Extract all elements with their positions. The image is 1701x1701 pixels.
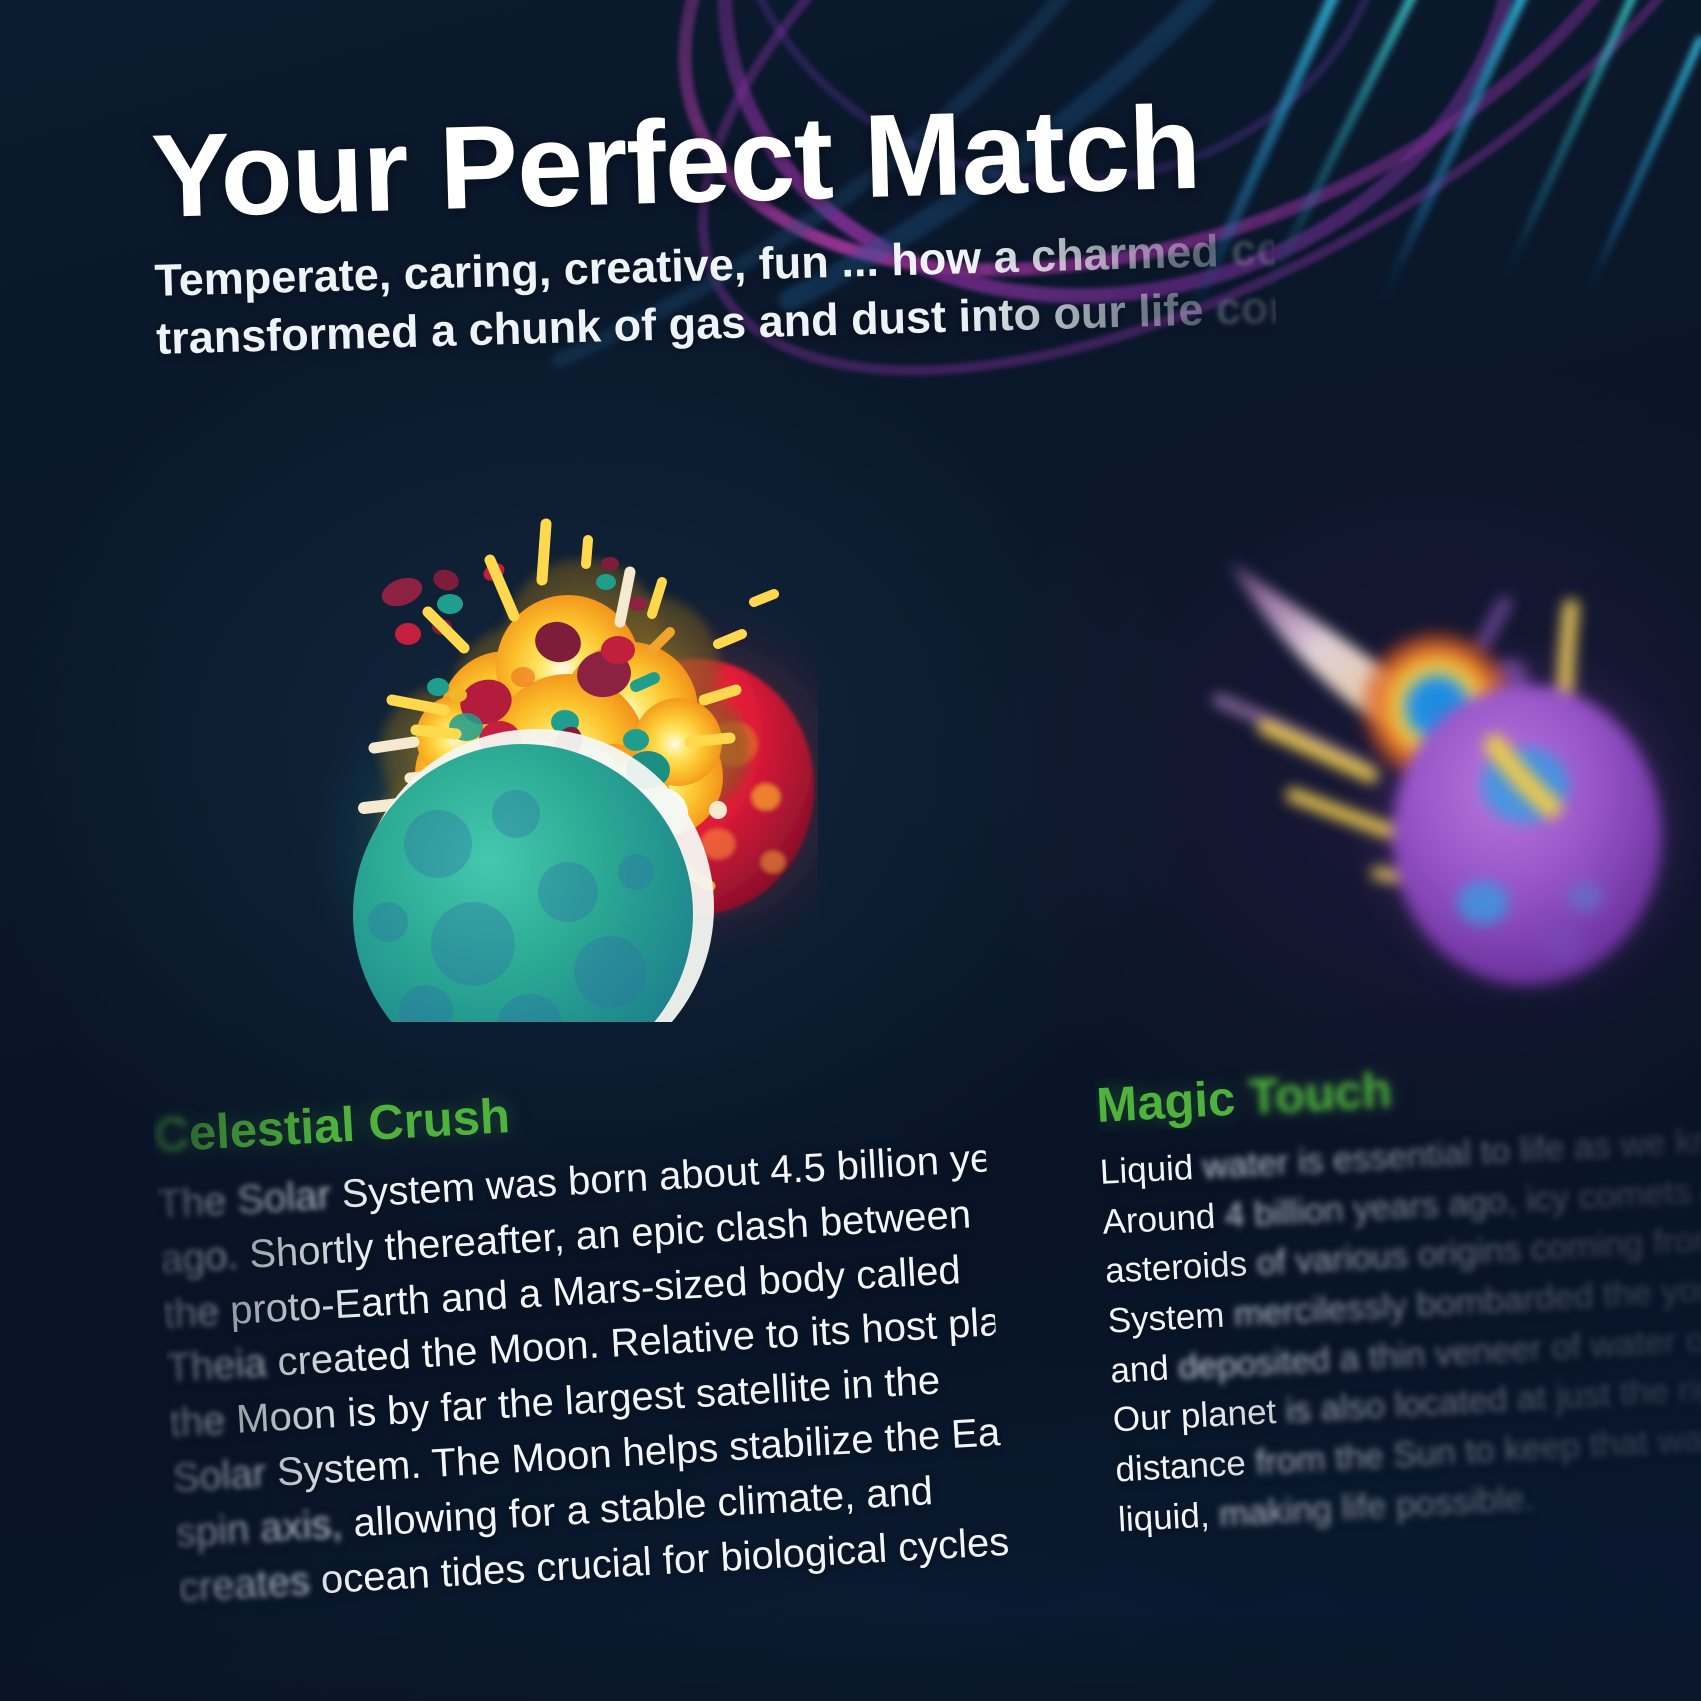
collision-svg — [318, 452, 818, 1022]
magic-touch-heading-clear: Magic — [1095, 1071, 1250, 1133]
line-clear: System — [1107, 1295, 1235, 1341]
magic-touch-body: Liquid water is essential to life as we … — [1099, 1115, 1701, 1544]
line-soft: Theia — [165, 1341, 278, 1391]
magic-touch-heading-soft: Touch — [1247, 1064, 1393, 1125]
purple-planet — [1392, 685, 1662, 985]
section-celestial-crush: Celestial Crush The Solar System was bor… — [152, 1062, 1009, 1616]
page-title: Your Perfect Match — [150, 84, 1353, 235]
line-soft: The Solar — [156, 1173, 343, 1227]
line-clear: Around — [1102, 1196, 1226, 1241]
section-magic-touch: Magic Touch Liquid water is essential to… — [1095, 1046, 1701, 1545]
collision-illustration — [318, 452, 818, 1022]
line-soft: making life possible. — [1218, 1478, 1535, 1533]
line-soft: creates — [178, 1558, 323, 1610]
celestial-crush-heading-soft: C — [152, 1107, 190, 1163]
line-clear: Liquid — [1099, 1147, 1204, 1191]
infographic-poster: Your Perfect Match Temperate, caring, cr… — [0, 0, 1701, 1701]
line-clear: and — [1109, 1348, 1179, 1391]
poster-header: Your Perfect Match Temperate, caring, cr… — [150, 84, 1356, 367]
comet-svg — [1165, 495, 1701, 1005]
line-soft: Solar — [171, 1451, 278, 1501]
line-clear: distance — [1115, 1443, 1257, 1489]
line-soft: spin axis, — [175, 1501, 355, 1555]
celestial-crush-body: The Solar System was born about 4.5 bill… — [156, 1132, 1009, 1616]
line-clear: Our planet — [1112, 1392, 1287, 1440]
comet-illustration — [1165, 495, 1701, 1005]
line-soft: the — [162, 1289, 231, 1337]
line-clear: liquid, — [1117, 1495, 1220, 1539]
line-soft: ago. — [159, 1233, 250, 1282]
page-subtitle: Temperate, caring, creative, fun ... how… — [154, 221, 1277, 367]
subtitle-line-1-faded: cosmic history — [1230, 216, 1549, 276]
line-clear: asteroids — [1104, 1244, 1258, 1291]
bottom-vignette — [0, 1611, 1701, 1701]
celestial-crush-heading-rest: elestial Crush — [187, 1089, 511, 1161]
line-soft: the — [168, 1398, 237, 1446]
subtitle-line-2-faded: companion. — [1215, 276, 1469, 334]
